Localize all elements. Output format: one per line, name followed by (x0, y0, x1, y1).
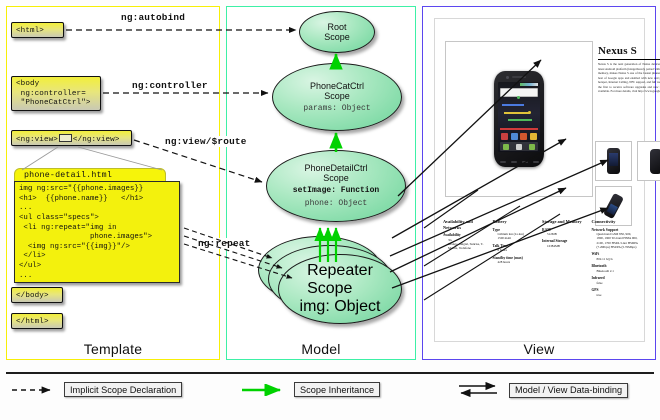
phone-statusbar (520, 83, 538, 86)
spec-group-value: 512MB (542, 232, 589, 236)
spec-column-heading: Battery (493, 219, 540, 225)
phone-detail-code: img ng:src="{{phone.images}} <h1> {{phon… (14, 181, 180, 283)
ng-view-close-tag: </ng:view> (73, 136, 120, 144)
scope-phonedetailctrl: PhoneDetailCtrlScope setImage: Function … (266, 150, 406, 222)
spec-group: RAM512MB (542, 228, 589, 237)
spec-group: Talk Time6 hours (493, 244, 540, 253)
phone-decor-dot-2 (528, 111, 531, 114)
spec-group-value: Bluetooth 2.1 (592, 269, 639, 273)
arrow-label-ng-controller: ng:controller (130, 80, 210, 91)
spec-group-value: Orange, Singtel, Sunrise, T-Mobile, Voda… (443, 242, 490, 251)
view-thumbnail[interactable] (637, 141, 660, 181)
scope-root: RootScope (299, 11, 375, 53)
spec-group: Standby time (max)428 hours (493, 256, 540, 265)
spec-column-heading: Availability and Networks (443, 219, 490, 230)
spec-column: ConnectivityNetwork SupportQuad-band GSM… (592, 219, 639, 297)
spec-group-value: 16384MB (542, 244, 589, 248)
spec-group: GPStrue (592, 288, 639, 297)
phone-dock-icon (516, 144, 522, 150)
phone-camera-icon (506, 76, 509, 79)
ng-view-slot-icon (59, 134, 72, 142)
view-phone-description: Nexus S is the next generation of Nexus … (598, 62, 660, 94)
arrow-label-ng-repeat: ng:repeat (196, 238, 252, 249)
scope-phonecatctrl-prop-params: params: Object (303, 104, 370, 114)
ng-view-open-tag: <ng:view> (16, 136, 58, 144)
spec-column-heading: Storage and Memory (542, 219, 589, 225)
spec-group-value: 1500 mAh (493, 236, 540, 240)
panel-label-template: Template (7, 341, 219, 357)
scope-repeater: RepeaterScope img: Object (278, 254, 402, 324)
phone-decor-dot-1 (517, 96, 520, 99)
arrow-label-ng-autobind: ng:autobind (119, 12, 187, 23)
phone-speaker-icon (512, 76, 526, 78)
legend-double-arrow-icon (455, 382, 503, 398)
spec-group-value: 428 hours (493, 260, 540, 264)
legend-data-binding: Model / View Data-binding (455, 382, 628, 398)
rendered-view-page: Nexus S Nexus S is the next generation o… (434, 18, 645, 342)
phone-decor-line-1 (502, 104, 524, 106)
spec-group: Internal Storage16384MB (542, 239, 589, 248)
phone-screen (498, 82, 540, 152)
spec-group-value: Quad-band GSM 850, 900, 1800, 1900 Tri-b… (592, 232, 639, 249)
phone-detail-filename: phone-detail.html (14, 168, 166, 182)
phone-app-icon (530, 133, 537, 140)
view-thumbnail-list (595, 141, 660, 226)
code-box-body-close: </body> (11, 287, 63, 303)
legend-implicit-scope: Implicit Scope Declaration (10, 382, 182, 397)
view-specs-table: Availability and NetworksAvailability3GO… (443, 219, 638, 297)
scope-phonedetailctrl-prop-setimage: setImage: Function (293, 186, 379, 196)
scope-repeater-prop-img: img: Object (300, 298, 381, 316)
phone-app-icons (500, 129, 538, 140)
spec-group-value: true (592, 293, 639, 297)
spec-group: WiFi802.11 b/g/n (592, 252, 639, 261)
spec-column: Storage and MemoryRAM512MBInternal Stora… (542, 219, 589, 297)
legend-label-implicit: Implicit Scope Declaration (64, 382, 182, 397)
phone-dock-icon (503, 144, 509, 150)
scope-phonedetailctrl-prop-phone: phone: Object (305, 199, 367, 209)
phone-device-illustration (494, 71, 544, 167)
code-box-html-open: <html> (11, 22, 64, 38)
code-box-ng-view: <ng:view></ng:view> (11, 130, 132, 146)
spec-group: Network SupportQuad-band GSM 850, 900, 1… (592, 228, 639, 250)
spec-group-value: 802.11 b/g/n (592, 257, 639, 261)
phone-dock (500, 142, 538, 151)
legend-dashed-arrow-icon (10, 384, 58, 396)
spec-group: Availability3GOrange, Singtel, Sunrise, … (443, 233, 490, 251)
legend-label-databinding: Model / View Data-binding (509, 383, 628, 398)
spec-group: TypeLithium Ion (Li-Ion)1500 mAh (493, 228, 540, 241)
spec-group: BluetoothBluetooth 2.1 (592, 264, 639, 273)
spec-group: Infraredfalse (592, 276, 639, 285)
legend-divider (6, 372, 654, 374)
panel-label-model: Model (227, 341, 415, 357)
spec-column-heading: Connectivity (592, 219, 639, 225)
spec-column: Availability and NetworksAvailability3GO… (443, 219, 490, 297)
phone-app-icon (501, 133, 508, 140)
phone-dock-icon (529, 144, 535, 150)
arrow-label-ng-view-route: ng:view/$route (163, 136, 249, 147)
diagram-canvas: Template Model View <html> <body ng:cont… (0, 0, 660, 420)
phone-hero-image (445, 41, 593, 197)
scope-repeater-label: RepeaterScope (307, 262, 373, 298)
view-title-divider (598, 59, 660, 60)
scope-phonedetailctrl-label: PhoneDetailCtrlScope (304, 163, 367, 183)
legend-label-inheritance: Scope Inheritance (294, 382, 380, 397)
phone-decor-line-2 (504, 112, 530, 114)
view-thumbnail[interactable] (595, 141, 632, 181)
code-box-html-close: </html> (11, 313, 63, 329)
spec-group-value: false (592, 281, 639, 285)
phone-app-icon (511, 133, 518, 140)
spec-column: BatteryTypeLithium Ion (Li-Ion)1500 mAhT… (493, 219, 540, 297)
scope-phonecatctrl-label: PhoneCatCtrlScope (310, 81, 364, 101)
scope-phonecatctrl: PhoneCatCtrlScope params: Object (272, 63, 402, 131)
panel-label-view: View (423, 341, 655, 357)
code-box-body-open: <body ng:controller= "PhoneCatCtrl"> (11, 76, 101, 111)
legend-scope-inheritance: Scope Inheritance (240, 382, 380, 397)
legend-green-arrow-icon (240, 384, 288, 396)
view-phone-title: Nexus S (598, 45, 637, 57)
phone-nav-buttons (497, 159, 541, 165)
spec-group-value: 6 hours (493, 248, 540, 252)
phone-detail-callout: phone-detail.html img ng:src="{{phone.im… (14, 168, 180, 283)
phone-app-icon (520, 133, 527, 140)
scope-root-label: RootScope (324, 22, 350, 42)
phone-decor-line-3 (508, 119, 532, 121)
